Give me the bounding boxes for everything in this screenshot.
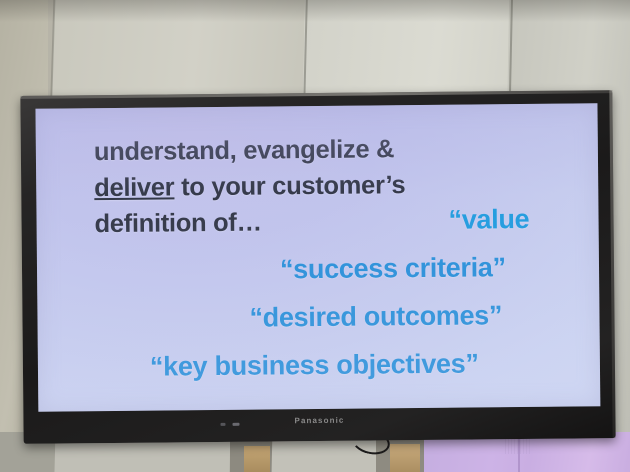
warm-light-patch-2 [390, 444, 420, 472]
quote-value: “value [448, 204, 529, 236]
display-screen[interactable]: understand, evangelize & deliver to your… [35, 103, 600, 411]
ceiling-shadow [0, 0, 630, 22]
presentation-slide: understand, evangelize & deliver to your… [35, 103, 600, 411]
photo-scene: understand, evangelize & deliver to your… [0, 0, 630, 472]
slide-heading-line-1: understand, evangelize & [94, 135, 395, 167]
warm-light-patch-1 [244, 446, 270, 472]
quote-key-business-objectives: “key business objectives” [150, 348, 479, 382]
slide-heading-line-3: definition of… [94, 209, 261, 240]
slide-heading-line-2-rest: to your customer’s [174, 171, 405, 201]
power-led [232, 423, 239, 426]
quote-desired-outcomes: “desired outcomes” [249, 300, 502, 333]
deliver-underlined-word: deliver [94, 173, 174, 202]
quote-success-criteria: “success criteria” [280, 252, 506, 285]
ir-sensor [220, 423, 225, 426]
slide-heading-line-2: deliver to your customer’s [94, 171, 405, 203]
flat-panel-display[interactable]: understand, evangelize & deliver to your… [20, 90, 615, 444]
